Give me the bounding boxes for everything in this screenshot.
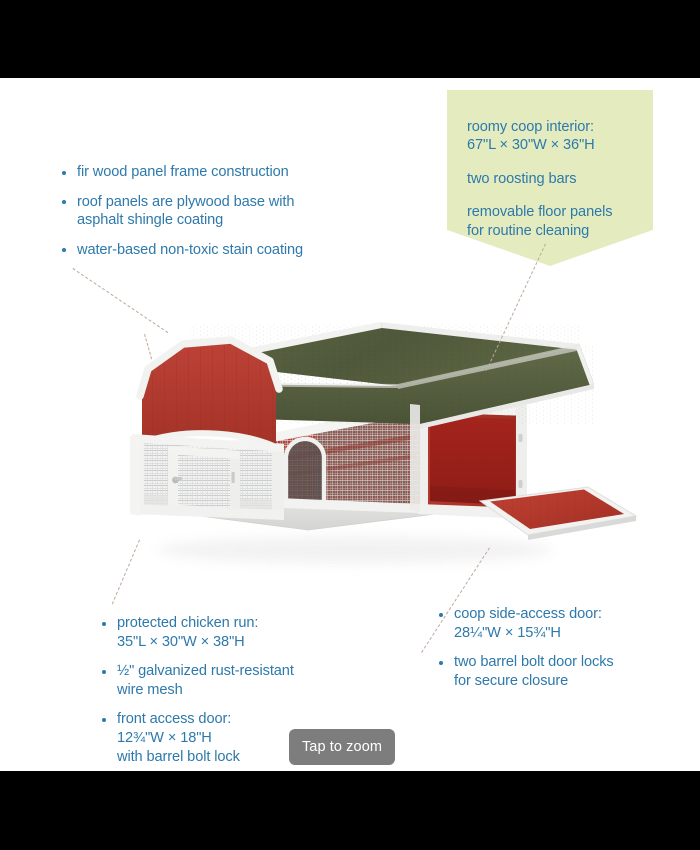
barrel-bolt-lock-right-2	[519, 480, 523, 488]
callout-line: two roosting bars	[467, 170, 635, 188]
spec-item-wire-mesh: ½" galvanized rust-resistant wire mesh	[100, 662, 400, 699]
product-shadow	[157, 536, 553, 564]
callout-line: roomy coop interior:	[467, 118, 635, 136]
door-hinge	[232, 472, 235, 483]
run-front-frame-right	[272, 446, 284, 516]
coop-arched-doorway	[286, 439, 324, 506]
letterbox-bar-bottom	[0, 771, 700, 850]
spec-item-frame-construction: fir wood panel frame construction	[60, 163, 370, 182]
callout-line: for routine cleaning	[467, 222, 635, 240]
run-front-access-door	[168, 446, 240, 517]
callout-line: removable floor panels	[467, 203, 635, 221]
spec-line: asphalt shingle coating	[77, 211, 370, 230]
spec-line: 35"L × 30"W × 38"H	[117, 633, 400, 652]
spec-line: wire mesh	[117, 681, 400, 700]
spec-line: 28¼"W × 15¾"H	[454, 624, 687, 643]
spec-line: front access door:	[117, 710, 400, 729]
callout-item-roosting-bars: two roosting bars	[467, 170, 635, 188]
callout-item-interior-dimensions: roomy coop interior: 67"L × 30"W × 36"H	[467, 118, 635, 155]
spec-line: for secure closure	[454, 672, 687, 691]
spec-list-top-left: fir wood panel frame construction roof p…	[60, 163, 370, 259]
spec-item-barrel-bolt-locks: two barrel bolt door locks for secure cl…	[437, 653, 687, 690]
callout-item-removable-floor: removable floor panels for routine clean…	[467, 203, 635, 240]
callout-coop-interior: roomy coop interior: 67"L × 30"W × 36"H …	[447, 90, 653, 266]
callout-list: roomy coop interior: 67"L × 30"W × 36"H …	[467, 118, 635, 240]
tap-to-zoom-button[interactable]: Tap to zoom	[289, 729, 395, 765]
barrel-bolt-lock-right	[519, 434, 523, 442]
spec-line: protected chicken run:	[117, 614, 400, 633]
front-gable	[140, 340, 279, 448]
spec-line: two barrel bolt door locks	[454, 653, 687, 672]
letterbox-bar-top	[0, 0, 700, 78]
spec-item-chicken-run: protected chicken run: 35"L × 30"W × 38"…	[100, 614, 400, 651]
spec-item-side-access-door: coop side-access door: 28¼"W × 15¾"H	[437, 605, 687, 642]
spec-item-roof-panels: roof panels are plywood base with asphal…	[60, 193, 370, 230]
spec-list-bottom-right: coop side-access door: 28¼"W × 15¾"H two…	[437, 605, 687, 690]
product-image-chicken-coop[interactable]	[80, 258, 640, 578]
callout-line: 67"L × 30"W × 36"H	[467, 136, 635, 154]
spec-line: fir wood panel frame construction	[77, 163, 370, 182]
spec-line: coop side-access door:	[454, 605, 687, 624]
spec-line: ½" galvanized rust-resistant	[117, 662, 400, 681]
screenshot-root: fir wood panel frame construction roof p…	[0, 0, 700, 850]
spec-line: water-based non-toxic stain coating	[77, 241, 370, 260]
product-detail-page: fir wood panel frame construction roof p…	[0, 78, 700, 771]
spec-line: roof panels are plywood base with	[77, 193, 370, 212]
spec-item-stain-coating: water-based non-toxic stain coating	[60, 241, 370, 260]
